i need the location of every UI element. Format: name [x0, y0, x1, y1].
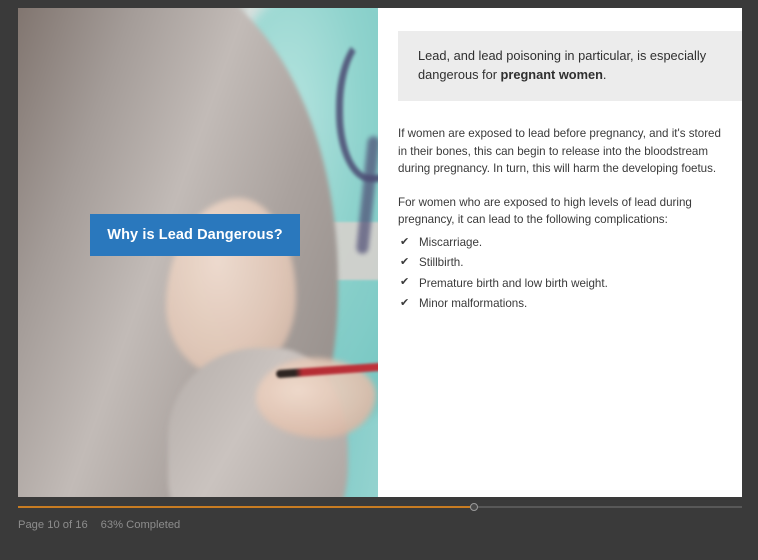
- check-icon: ✔: [400, 295, 409, 312]
- check-icon: ✔: [400, 274, 409, 291]
- progress-bar-fill: [18, 506, 474, 508]
- callout-text: Lead, and lead poisoning in particular, …: [418, 46, 720, 84]
- callout-text-after: .: [603, 67, 607, 82]
- paragraph-1: If women are exposed to lead before preg…: [398, 125, 730, 178]
- callout-text-emphasis: pregnant women: [501, 67, 603, 82]
- list-item-label: Minor malformations.: [419, 297, 527, 310]
- course-player: Why is Lead Dangerous? Lead, and lead po…: [0, 0, 758, 560]
- slide-photo: Why is Lead Dangerous?: [18, 8, 378, 497]
- player-footer: Page 10 of 16 63% Completed ❮ Prev Next …: [0, 497, 758, 560]
- check-icon: ✔: [400, 234, 409, 251]
- list-item: ✔Miscarriage.: [400, 234, 608, 252]
- body-copy: If women are exposed to lead before preg…: [398, 125, 730, 245]
- slide-title-banner: Why is Lead Dangerous?: [90, 214, 300, 256]
- list-item-label: Miscarriage.: [419, 236, 482, 249]
- paragraph-2: For women who are exposed to high levels…: [398, 194, 730, 229]
- slide-content-panel: Lead, and lead poisoning in particular, …: [378, 8, 742, 497]
- highlight-callout: Lead, and lead poisoning in particular, …: [398, 31, 742, 101]
- slide-title-text: Why is Lead Dangerous?: [107, 227, 282, 243]
- status-text: Page 10 of 16 63% Completed: [18, 519, 180, 531]
- slide-stage: Why is Lead Dangerous? Lead, and lead po…: [18, 8, 742, 497]
- list-item-label: Stillbirth.: [419, 256, 463, 269]
- complications-list: ✔Miscarriage. ✔Stillbirth. ✔Premature bi…: [400, 234, 608, 316]
- list-item-label: Premature birth and low birth weight.: [419, 277, 608, 290]
- list-item: ✔Premature birth and low birth weight.: [400, 275, 608, 293]
- progress-bar-handle[interactable]: [470, 503, 478, 511]
- page-indicator: Page 10 of 16: [18, 519, 88, 531]
- progress-bar[interactable]: [18, 506, 742, 508]
- list-item: ✔Stillbirth.: [400, 254, 608, 272]
- completion-indicator: 63% Completed: [101, 519, 181, 531]
- list-item: ✔Minor malformations.: [400, 295, 608, 313]
- check-icon: ✔: [400, 254, 409, 271]
